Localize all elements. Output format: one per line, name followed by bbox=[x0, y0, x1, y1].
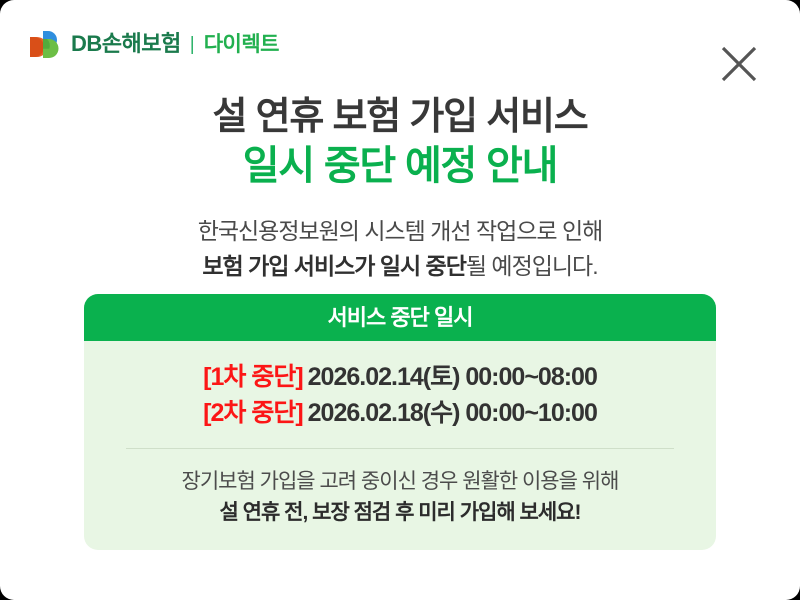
panel-header-title: 서비스 중단 일시 bbox=[328, 307, 473, 329]
headline-line-1: 설 연휴 보험 가입 서비스 bbox=[0, 95, 800, 140]
note-line-1: 장기보험 가입을 고려 중이신 경우 원활한 이용을 위해 bbox=[84, 466, 716, 497]
description-block: 한국신용정보원의 시스템 개선 작업으로 인해 보험 가입 서비스가 일시 중단… bbox=[0, 214, 800, 283]
description-line-2-rest: 될 예정입니다. bbox=[466, 253, 598, 279]
panel-header: 서비스 중단 일시 bbox=[84, 294, 716, 341]
service-suspension-panel: 서비스 중단 일시 [1차 중단]2026.02.14(토) 00:00~08:… bbox=[84, 294, 716, 550]
panel-note: 장기보험 가입을 고려 중이신 경우 원활한 이용을 위해 설 연휴 전, 보장… bbox=[84, 466, 716, 528]
list-item: [2차 중단]2026.02.18(수) 00:00~10:00 bbox=[84, 395, 716, 431]
brand-name: DB손해보험 bbox=[71, 33, 181, 55]
brand-separator: | bbox=[190, 35, 195, 54]
headline-line-2: 일시 중단 예정 안내 bbox=[0, 142, 800, 190]
description-line-2: 보험 가입 서비스가 일시 중단될 예정입니다. bbox=[0, 249, 800, 284]
page-title: 설 연휴 보험 가입 서비스 일시 중단 예정 안내 bbox=[0, 95, 800, 190]
notice-popup-card: DB손해보험 | 다이렉트 설 연휴 보험 가입 서비스 일시 중단 예정 안내… bbox=[0, 0, 800, 600]
brand-logo: DB손해보험 | 다이렉트 bbox=[28, 30, 279, 58]
close-icon bbox=[716, 41, 762, 87]
description-line-2-strong: 보험 가입 서비스가 일시 중단 bbox=[202, 253, 465, 279]
brand-sub-label: 다이렉트 bbox=[204, 34, 279, 55]
panel-divider bbox=[126, 448, 674, 449]
list-item: [1차 중단]2026.02.14(토) 00:00~08:00 bbox=[84, 359, 716, 395]
panel-body: [1차 중단]2026.02.14(토) 00:00~08:00 [2차 중단]… bbox=[84, 341, 716, 550]
schedule-list: [1차 중단]2026.02.14(토) 00:00~08:00 [2차 중단]… bbox=[84, 359, 716, 432]
schedule-value: 2026.02.18(수) 00:00~10:00 bbox=[308, 399, 597, 427]
close-button[interactable] bbox=[716, 41, 762, 87]
schedule-label: [1차 중단] bbox=[203, 363, 303, 391]
schedule-value: 2026.02.14(토) 00:00~08:00 bbox=[308, 363, 597, 391]
description-line-1: 한국신용정보원의 시스템 개선 작업으로 인해 bbox=[0, 214, 800, 249]
note-line-2: 설 연휴 전, 보장 점검 후 미리 가입해 보세요! bbox=[84, 497, 716, 528]
db-insurance-logo-icon bbox=[28, 30, 64, 58]
schedule-label: [2차 중단] bbox=[203, 399, 303, 427]
